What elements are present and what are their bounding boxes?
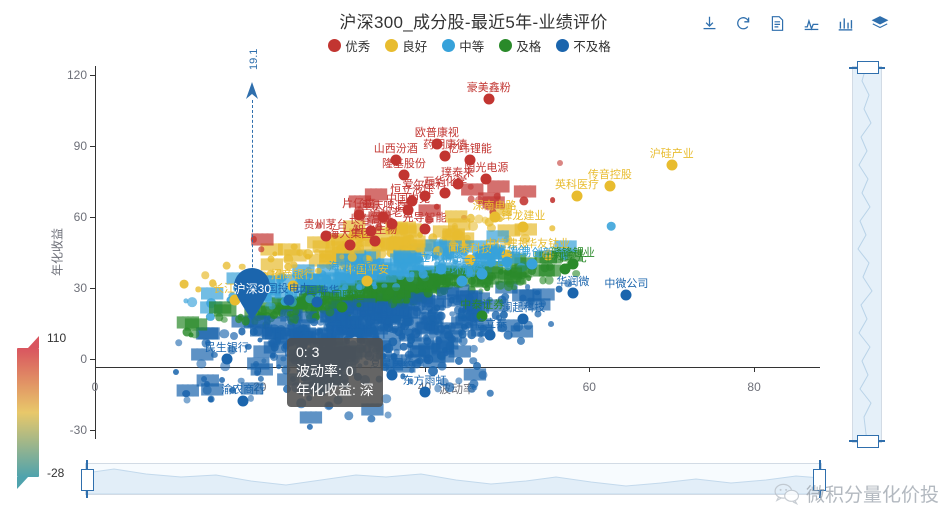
scatter-point[interactable] — [571, 190, 582, 201]
scatter-point[interactable] — [401, 263, 406, 268]
scatter-point[interactable] — [378, 325, 385, 332]
x-tick-label: 80 — [747, 380, 760, 394]
x-tick — [589, 367, 590, 372]
scatter-point[interactable] — [323, 292, 330, 299]
scatter-point[interactable] — [503, 331, 512, 340]
scatter-point[interactable] — [374, 275, 379, 280]
y-tick — [90, 146, 95, 147]
scatter-point[interactable] — [516, 263, 526, 273]
legend-item-4[interactable]: 不及格 — [556, 36, 611, 55]
scatter-point-label: ████ — [487, 182, 507, 193]
scatter-point[interactable] — [390, 353, 397, 360]
scatter-point[interactable] — [405, 328, 414, 337]
chart-toolbox — [701, 14, 889, 32]
scatter-point[interactable] — [360, 312, 366, 318]
scatter-point[interactable] — [385, 318, 391, 324]
scatter-point[interactable] — [525, 284, 531, 290]
scatter-point[interactable] — [267, 256, 274, 263]
scatter-point[interactable] — [419, 190, 430, 201]
scatter-point[interactable] — [211, 352, 217, 358]
scatter-point[interactable] — [337, 312, 346, 321]
scatter-point[interactable] — [516, 277, 524, 285]
y-tick-label: 30 — [74, 281, 87, 295]
scatter-point[interactable] — [517, 337, 525, 345]
scatter-point[interactable] — [370, 235, 381, 246]
scatter-point[interactable] — [419, 349, 427, 357]
scatter-point[interactable] — [274, 332, 283, 341]
scatter-point[interactable] — [245, 344, 252, 351]
x-tick-label: 60 — [583, 380, 596, 394]
legend-item-label: 优秀 — [345, 36, 370, 55]
scatter-point[interactable] — [433, 204, 439, 210]
y-tick-label: 60 — [74, 210, 87, 224]
scatter-point[interactable] — [354, 328, 363, 337]
scatter-point[interactable] — [539, 300, 547, 308]
y-tick-label: -30 — [70, 423, 87, 437]
scatter-point-label: ████ — [197, 328, 217, 339]
scatter-point[interactable] — [456, 275, 467, 286]
scatter-point[interactable] — [248, 395, 254, 401]
scatter-point[interactable] — [446, 253, 453, 260]
vertical-data-zoom-preview — [853, 67, 881, 442]
scatter-point[interactable] — [349, 262, 358, 271]
x-tick-label: 0 — [92, 380, 99, 394]
scatter-point[interactable] — [401, 237, 408, 244]
chart-legend: 优秀良好中等及格不及格 — [0, 36, 947, 55]
scatter-point[interactable] — [406, 274, 414, 282]
scatter-point[interactable] — [621, 289, 632, 300]
scatter-point[interactable] — [666, 160, 677, 171]
scatter-point[interactable] — [544, 276, 553, 285]
line-chart-icon[interactable] — [803, 15, 820, 32]
scatter-point[interactable] — [201, 272, 208, 279]
scatter-point-label: ████ — [554, 242, 574, 253]
scatter-point[interactable] — [303, 249, 313, 259]
scatter-point[interactable] — [458, 307, 464, 313]
scatter-point[interactable] — [340, 286, 346, 292]
y-tick — [90, 288, 95, 289]
scatter-point[interactable] — [287, 280, 298, 291]
scatter-point[interactable] — [258, 338, 263, 343]
legend-item-label: 中等 — [459, 36, 484, 55]
scatter-point-label: ████ — [300, 412, 320, 423]
x-tick — [95, 367, 96, 372]
scatter-point[interactable] — [183, 397, 190, 404]
watermark: 微积分量化价投 — [774, 480, 939, 507]
scatter-point[interactable] — [376, 316, 382, 322]
scatter-point[interactable] — [433, 328, 440, 335]
legend-item-1[interactable]: 良好 — [385, 36, 427, 55]
scatter-point[interactable] — [478, 289, 483, 294]
scatter-point[interactable] — [386, 219, 397, 230]
horizontal-data-zoom-left-handle[interactable] — [81, 469, 94, 491]
scatter-point[interactable] — [440, 378, 449, 387]
scatter-point[interactable] — [526, 301, 533, 308]
scatter-point[interactable] — [573, 270, 581, 278]
scatter-point[interactable] — [368, 415, 375, 422]
scatter-point[interactable] — [520, 234, 530, 244]
y-tick — [90, 75, 95, 76]
stack-icon[interactable] — [871, 14, 889, 32]
scatter-point[interactable] — [385, 411, 392, 418]
scatter-point[interactable] — [477, 311, 488, 322]
scatter-point[interactable] — [222, 261, 231, 270]
scatter-point[interactable] — [320, 230, 331, 241]
tooltip-line-3: 年化收益: 深 — [296, 381, 374, 400]
scatter-point[interactable] — [386, 370, 397, 381]
download-icon[interactable] — [701, 15, 718, 32]
scatter-point[interactable] — [419, 270, 428, 279]
scatter-point[interactable] — [319, 252, 326, 259]
scatter-point[interactable] — [474, 362, 482, 370]
scatter-point[interactable] — [407, 337, 415, 345]
scatter-point[interactable] — [483, 278, 492, 287]
mark-line-arrow-icon — [244, 82, 260, 100]
scatter-point[interactable] — [337, 258, 345, 266]
scatter-point[interactable] — [489, 212, 500, 223]
legend-item-label: 良好 — [402, 36, 427, 55]
scatter-point[interactable] — [175, 339, 183, 347]
scatter-point[interactable] — [464, 254, 475, 265]
scatter-point[interactable] — [377, 250, 386, 259]
scatter-point[interactable] — [555, 286, 562, 293]
scatter-point[interactable] — [312, 297, 323, 308]
legend-item-0[interactable]: 优秀 — [328, 36, 370, 55]
scatter-point[interactable] — [477, 268, 488, 279]
scatter-point[interactable] — [440, 150, 451, 161]
scatter-point[interactable] — [478, 371, 487, 380]
legend-item-label: 及格 — [516, 36, 541, 55]
scatter-point[interactable] — [314, 249, 320, 255]
visual-map-min-handle-icon[interactable] — [17, 477, 28, 489]
scatter-point[interactable] — [417, 357, 424, 364]
scatter-point[interactable] — [306, 279, 313, 286]
scatter-point[interactable] — [230, 332, 238, 340]
scatter-point[interactable] — [291, 262, 298, 269]
scatter-point[interactable] — [388, 337, 397, 346]
scatter-point[interactable] — [567, 287, 578, 298]
scatter-point[interactable] — [419, 223, 430, 234]
scatter-point[interactable] — [390, 155, 401, 166]
scatter-point[interactable] — [384, 264, 390, 270]
scatter-point[interactable] — [332, 233, 338, 239]
scatter-point[interactable] — [491, 258, 496, 263]
scatter-point[interactable] — [424, 254, 430, 260]
scatter-point[interactable] — [403, 205, 414, 216]
visual-map-max-label: 110 — [47, 331, 66, 345]
scatter-point[interactable] — [543, 249, 554, 260]
scatter-point[interactable] — [520, 196, 529, 205]
legend-color-dot — [385, 39, 398, 52]
scatter-point[interactable] — [478, 337, 484, 343]
scatter-point[interactable] — [344, 411, 353, 420]
scatter-point[interactable] — [465, 301, 475, 311]
scatter-point[interactable] — [371, 199, 380, 208]
scatter-point[interactable] — [321, 274, 330, 283]
horizontal-data-zoom-preview — [86, 464, 821, 494]
scatter-point[interactable] — [557, 160, 563, 166]
legend-item-label: 不及格 — [573, 36, 611, 55]
scatter-point[interactable] — [438, 362, 447, 371]
scatter-point[interactable] — [316, 223, 322, 229]
scatter-point[interactable] — [238, 377, 245, 384]
scatter-point[interactable] — [361, 275, 372, 286]
scatter-point[interactable] — [503, 236, 512, 245]
scatter-point[interactable] — [337, 301, 348, 312]
scatter-point[interactable] — [518, 221, 529, 232]
scatter-point[interactable] — [452, 179, 463, 190]
scatter-point[interactable] — [475, 196, 483, 204]
scatter-point[interactable] — [548, 321, 554, 327]
scatter-point[interactable] — [481, 174, 492, 185]
scatter-point[interactable] — [401, 374, 406, 379]
x-tick — [425, 367, 426, 372]
scatter-point[interactable] — [487, 297, 493, 303]
scatter-point[interactable] — [546, 263, 554, 271]
scatter-point[interactable] — [445, 341, 454, 350]
scatter-point-label: ████ — [261, 245, 281, 256]
refresh-icon[interactable] — [735, 15, 752, 32]
scatter-point[interactable] — [221, 353, 232, 364]
scatter-point[interactable] — [454, 230, 461, 237]
scatter-point[interactable] — [494, 193, 501, 200]
horizontal-data-zoom[interactable] — [85, 463, 822, 495]
scatter-point[interactable] — [353, 209, 364, 220]
scatter-point[interactable] — [468, 277, 476, 285]
scatter-point[interactable] — [428, 233, 437, 242]
scatter-point[interactable] — [484, 286, 490, 292]
scatter-point[interactable] — [398, 169, 409, 180]
scatter-point[interactable] — [404, 319, 412, 327]
scatter-point[interactable] — [535, 310, 542, 317]
scatter-point[interactable] — [206, 298, 216, 308]
scatter-point[interactable] — [485, 330, 496, 341]
scatter-point[interactable] — [182, 390, 190, 398]
scatter-point[interactable] — [276, 364, 282, 370]
legend-item-3[interactable]: 及格 — [499, 36, 541, 55]
scatter-point[interactable] — [459, 337, 468, 346]
scatter-point[interactable] — [464, 155, 475, 166]
legend-color-dot — [328, 39, 341, 52]
scatter-point[interactable] — [433, 254, 438, 259]
legend-color-dot — [499, 39, 512, 52]
scatter-point[interactable] — [219, 377, 225, 383]
mark-point-pin[interactable]: 沪深30 — [231, 268, 273, 325]
scatter-point[interactable] — [332, 326, 339, 333]
scatter-point[interactable] — [470, 271, 476, 277]
scatter-point[interactable] — [173, 369, 179, 375]
scatter-point[interactable] — [345, 240, 356, 251]
scatter-point[interactable] — [470, 345, 478, 353]
scatter-point[interactable] — [401, 247, 411, 257]
scatter-point[interactable] — [452, 259, 458, 265]
scatter-point[interactable] — [187, 298, 197, 308]
scatter-point[interactable] — [259, 247, 264, 252]
scatter-point[interactable] — [277, 276, 285, 284]
scatter-point[interactable] — [283, 294, 294, 305]
scatter-point[interactable] — [296, 326, 304, 334]
visual-map-gradient-bar[interactable] — [17, 348, 39, 477]
scatter-point[interactable] — [272, 251, 277, 256]
scatter-point[interactable] — [348, 253, 357, 262]
scatter-point[interactable] — [468, 196, 475, 203]
scatter-point[interactable] — [392, 283, 400, 291]
scatter-point[interactable] — [208, 396, 215, 403]
scatter-point[interactable] — [293, 271, 302, 280]
scatter-point[interactable] — [423, 288, 432, 297]
scatter-point[interactable] — [526, 259, 537, 270]
visual-map-max-handle-icon[interactable] — [28, 336, 39, 348]
vertical-data-zoom[interactable] — [852, 66, 882, 443]
bar-chart-icon[interactable] — [837, 15, 854, 32]
scatter-point[interactable] — [219, 329, 228, 338]
plot-area: 1209060300-30 020406080 年化收益 波动率 ███████… — [95, 66, 820, 439]
scatter-point[interactable] — [343, 266, 349, 272]
visual-map[interactable]: 110 -28 — [17, 336, 39, 489]
scatter-point[interactable] — [497, 296, 506, 305]
y-tick — [90, 359, 95, 360]
x-tick — [754, 367, 755, 372]
scatter-point[interactable] — [487, 390, 494, 397]
scatter-point[interactable] — [397, 272, 405, 280]
scatter-point[interactable] — [413, 256, 422, 265]
y-tick — [90, 217, 95, 218]
scatter-point[interactable] — [180, 280, 189, 289]
legend-color-dot — [556, 39, 569, 52]
scatter-point[interactable] — [299, 287, 306, 294]
y-tick-label: 90 — [74, 139, 87, 153]
watermark-text: 微积分量化价投 — [806, 480, 939, 507]
scatter-point[interactable] — [550, 226, 555, 231]
y-tick-label: 120 — [67, 68, 87, 82]
scatter-point[interactable] — [356, 241, 363, 248]
y-tick-label: 0 — [80, 352, 87, 366]
scatter-point[interactable] — [281, 356, 286, 361]
scatter-point[interactable] — [435, 319, 444, 328]
scatter-point[interactable] — [483, 94, 494, 105]
tooltip-line-2: 波动率: 0 — [296, 362, 374, 381]
scatter-point[interactable] — [201, 376, 207, 382]
scatter-point[interactable] — [345, 273, 356, 284]
scatter-point[interactable] — [253, 326, 263, 336]
scatter-point[interactable] — [469, 379, 478, 388]
scatter-point[interactable] — [310, 318, 318, 326]
scatter-point[interactable] — [468, 221, 478, 231]
scatter-point[interactable] — [455, 357, 463, 365]
y-axis-name: 年化收益 — [49, 228, 66, 276]
scatter-point[interactable] — [444, 351, 449, 356]
tooltip-line-1: 0: 3 — [296, 343, 374, 362]
x-tick-label: 20 — [253, 380, 266, 394]
scatter-point[interactable] — [381, 394, 391, 404]
scatter-point[interactable] — [326, 261, 335, 270]
legend-item-2[interactable]: 中等 — [442, 36, 484, 55]
scatter-point[interactable] — [305, 267, 312, 274]
mark-line-label: 19.1 — [248, 49, 260, 70]
scatter-point[interactable] — [461, 215, 467, 221]
scatter-point[interactable] — [444, 331, 454, 341]
scatter-point[interactable] — [424, 334, 430, 340]
scatter-point[interactable] — [413, 287, 420, 294]
wechat-icon — [774, 483, 800, 505]
mark-point-label: 沪深30 — [234, 280, 271, 297]
scatter-point[interactable] — [561, 252, 569, 260]
scatter-point[interactable] — [607, 222, 616, 231]
scatter-point[interactable] — [317, 328, 323, 334]
scatter-point[interactable] — [411, 248, 417, 254]
scatter-point[interactable] — [447, 323, 455, 331]
scatter-point[interactable] — [250, 236, 256, 242]
scatter-point[interactable] — [291, 243, 298, 250]
scatter-point[interactable] — [261, 358, 266, 363]
scatter-point[interactable] — [206, 312, 214, 320]
scatter-point[interactable] — [409, 368, 415, 374]
vertical-data-zoom-top-handle[interactable] — [857, 61, 879, 74]
scatter-point[interactable] — [229, 387, 236, 394]
scatter-point[interactable] — [519, 294, 526, 301]
scatter-point[interactable] — [238, 328, 245, 335]
scatter-point[interactable] — [442, 299, 452, 309]
scatter-point[interactable] — [190, 330, 199, 339]
scatter-point[interactable] — [440, 188, 451, 199]
legend-color-dot — [442, 39, 455, 52]
scatter-point[interactable] — [501, 256, 512, 267]
scatter-point[interactable] — [209, 279, 217, 287]
scatter-point[interactable] — [462, 325, 470, 333]
scatter-point[interactable] — [405, 351, 413, 359]
scatter-point[interactable] — [419, 386, 430, 397]
scatter-point[interactable] — [196, 287, 201, 292]
scatter-point[interactable] — [436, 338, 443, 345]
visual-map-min-label: -28 — [47, 466, 64, 480]
scatter-point[interactable] — [559, 264, 570, 275]
scatter-point[interactable] — [534, 290, 540, 296]
scatter-point[interactable] — [307, 424, 313, 430]
scatter-point[interactable] — [431, 138, 442, 149]
scatter-point[interactable] — [388, 298, 398, 308]
scatter-point[interactable] — [550, 197, 556, 203]
scatter-point[interactable] — [428, 366, 438, 376]
scatter-point[interactable] — [436, 264, 447, 275]
scatter-point[interactable] — [408, 379, 413, 384]
scatter-point[interactable] — [604, 181, 615, 192]
vertical-data-zoom-bottom-handle[interactable] — [857, 435, 879, 448]
scatter-point[interactable] — [253, 361, 259, 367]
scatter-point[interactable] — [238, 396, 249, 407]
scatter-point[interactable] — [494, 243, 500, 249]
scatter-point[interactable] — [419, 307, 427, 315]
data-view-icon[interactable] — [769, 15, 786, 32]
chart-tooltip: 0: 3 波动率: 0 年化收益: 深 — [287, 338, 383, 407]
scatter-point[interactable] — [518, 313, 529, 324]
scatter-chart-canvas: 沪深300_成分股-最近5年-业绩评价 优秀良好中等及格不及格 — [0, 0, 947, 513]
scatter-point[interactable] — [365, 226, 376, 237]
scatter-point[interactable] — [366, 320, 372, 326]
scatter-point[interactable] — [432, 343, 440, 351]
scatter-point[interactable] — [468, 184, 475, 191]
y-tick — [90, 430, 95, 431]
